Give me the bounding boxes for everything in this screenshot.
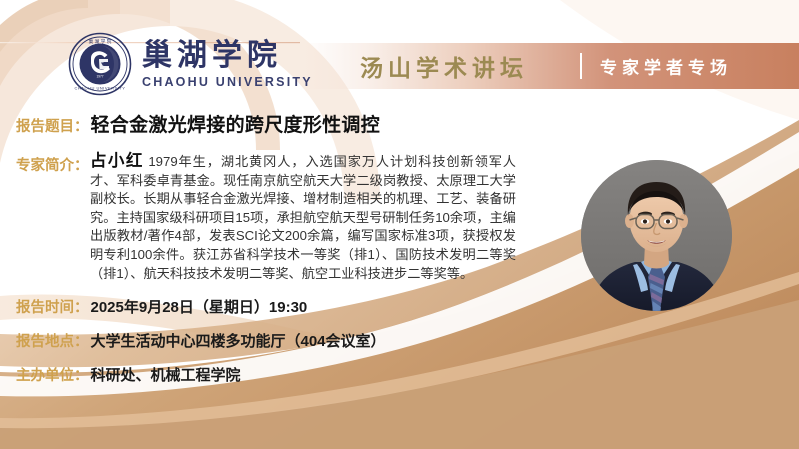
talk-time-value: 2025年9月28日（星期日）19:30 <box>91 296 308 317</box>
speaker-bio-label: 专家简介： <box>16 154 89 175</box>
poster-root: 汤山学术讲坛 专家学者专场 巢 湖 学 院 CHAOHU UNIVERSITY … <box>0 0 799 449</box>
talk-title-label: 报告题目： <box>16 115 89 136</box>
talk-organizer-row: 主办单位： 科研处、机械工程学院 <box>16 364 241 385</box>
talk-title-value: 轻合金激光焊接的跨尺度形性调控 <box>91 110 381 137</box>
talk-location-label: 报告地点： <box>16 330 89 351</box>
talk-location-value: 大学生活动中心四楼多功能厅（404会议室） <box>91 330 386 351</box>
speaker-bio-body: 占小红 1979年生，湖北黄冈人，入选国家万人计划科技创新领军人才、军科委卓青基… <box>90 152 516 283</box>
poster-content: 报告题目： 轻合金激光焊接的跨尺度形性调控 专家简介： 占小红 1979年生，湖… <box>0 0 799 449</box>
talk-title-row: 报告题目： 轻合金激光焊接的跨尺度形性调控 <box>16 110 380 137</box>
talk-location-row: 报告地点： 大学生活动中心四楼多功能厅（404会议室） <box>16 330 386 351</box>
speaker-bio-row: 专家简介： 占小红 1979年生，湖北黄冈人，入选国家万人计划科技创新领军人才、… <box>16 152 516 283</box>
talk-time-row: 报告时间： 2025年9月28日（星期日）19:30 <box>16 296 307 317</box>
speaker-bio-text: 1979年生，湖北黄冈人，入选国家万人计划科技创新领军人才、军科委卓青基金。现任… <box>90 154 516 281</box>
speaker-name: 占小红 <box>90 152 144 170</box>
talk-time-label: 报告时间： <box>16 296 89 317</box>
talk-organizer-value: 科研处、机械工程学院 <box>91 364 241 385</box>
talk-organizer-label: 主办单位： <box>16 364 89 385</box>
